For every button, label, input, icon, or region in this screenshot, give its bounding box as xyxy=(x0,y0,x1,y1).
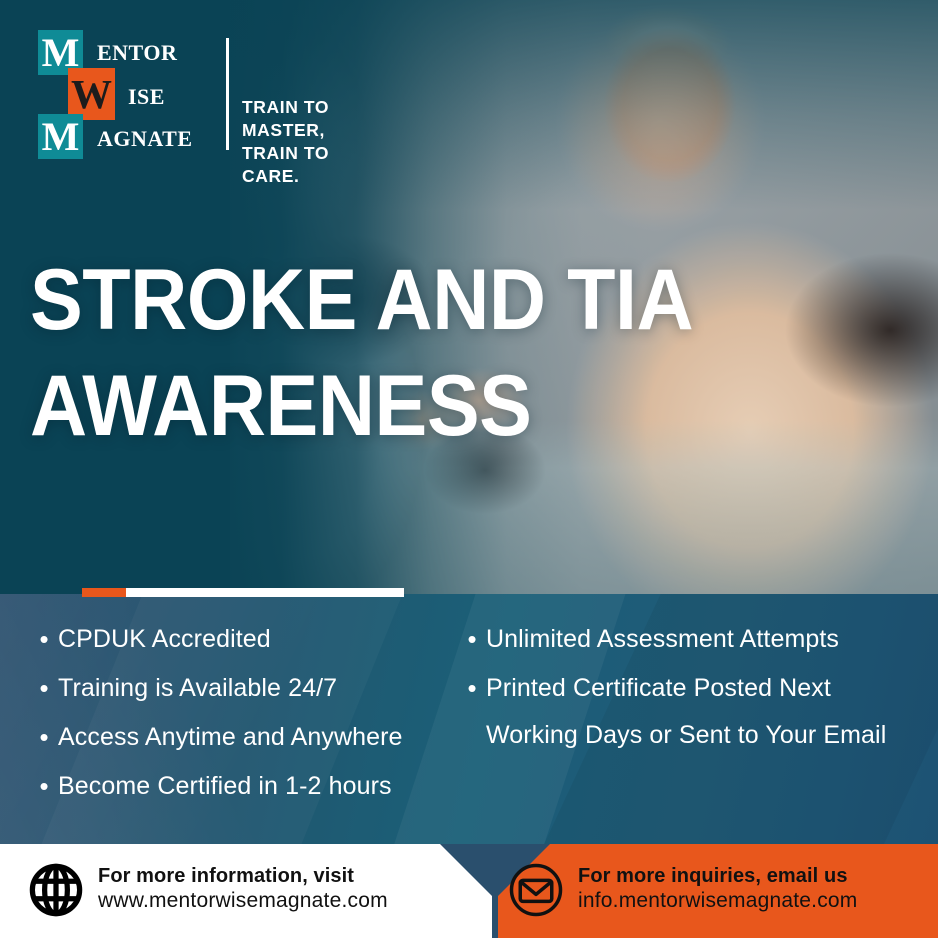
list-item: • Access Anytime and Anywhere xyxy=(30,714,460,761)
logo-word-wise: ISE xyxy=(128,86,165,108)
email-text: For more inquiries, email us info.mentor… xyxy=(578,865,858,914)
brand-logo: M W M ENTOR ISE AGNATE TRAIN TO MASTER, … xyxy=(38,30,378,158)
list-item: • CPDUK Accredited xyxy=(30,616,460,663)
feature-text: Unlimited Assessment Attempts xyxy=(486,616,839,663)
email-contact-block[interactable]: For more inquiries, email us info.mentor… xyxy=(508,862,858,918)
accent-divider-bar xyxy=(82,588,404,597)
email-heading: For more inquiries, email us xyxy=(578,865,858,888)
contact-footer: For more information, visit www.mentorwi… xyxy=(0,844,938,938)
feature-text: Printed Certificate Posted Next Working … xyxy=(486,665,928,759)
bullet-dot-icon: • xyxy=(458,616,486,662)
course-title-line-2: AWARENESS xyxy=(30,364,693,448)
logo-box-magnate: M xyxy=(38,114,83,159)
logo-wordmark: ENTOR ISE AGNATE xyxy=(86,30,226,158)
features-panel: • CPDUK Accredited • Training is Availab… xyxy=(0,594,938,844)
brand-tagline: TRAIN TO MASTER, TRAIN TO CARE. xyxy=(242,96,378,188)
website-contact-block[interactable]: For more information, visit www.mentorwi… xyxy=(28,862,388,918)
logo-vertical-divider xyxy=(226,38,229,150)
divider-orange-segment xyxy=(82,588,126,597)
list-item: • Unlimited Assessment Attempts xyxy=(458,616,928,663)
bullet-dot-icon: • xyxy=(30,763,58,809)
bullet-dot-icon: • xyxy=(30,714,58,760)
website-text: For more information, visit www.mentorwi… xyxy=(98,865,388,914)
logo-box-letter-m1: M xyxy=(42,33,80,73)
feature-text: Become Certified in 1-2 hours xyxy=(58,763,392,810)
list-item: • Printed Certificate Posted Next Workin… xyxy=(458,665,928,759)
feature-text: CPDUK Accredited xyxy=(58,616,271,663)
globe-icon xyxy=(28,862,84,918)
divider-white-segment xyxy=(126,588,404,597)
features-list: • CPDUK Accredited • Training is Availab… xyxy=(0,594,938,844)
tagline-line-1: TRAIN TO MASTER, xyxy=(242,96,378,142)
envelope-circle-icon xyxy=(508,862,564,918)
bullet-dot-icon: • xyxy=(458,665,486,711)
logo-word-magnate: AGNATE xyxy=(97,128,193,150)
promotional-poster: M W M ENTOR ISE AGNATE TRAIN TO MASTER, … xyxy=(0,0,938,938)
course-title-line-1: STROKE AND TIA xyxy=(30,258,693,342)
list-item: • Become Certified in 1-2 hours xyxy=(30,763,460,810)
feature-text: Access Anytime and Anywhere xyxy=(58,714,403,761)
bullet-dot-icon: • xyxy=(30,665,58,711)
logo-box-letter-m2: M xyxy=(42,117,80,157)
features-right-column: • Unlimited Assessment Attempts • Printe… xyxy=(458,616,928,761)
bullet-dot-icon: • xyxy=(30,616,58,662)
logo-word-mentor: ENTOR xyxy=(97,42,177,64)
features-left-column: • CPDUK Accredited • Training is Availab… xyxy=(30,616,460,812)
tagline-line-2: TRAIN TO CARE. xyxy=(242,142,378,188)
website-heading: For more information, visit xyxy=(98,865,388,888)
email-address[interactable]: info.mentorwisemagnate.com xyxy=(578,888,858,914)
course-title: STROKE AND TIA AWARENESS xyxy=(30,258,693,471)
website-url[interactable]: www.mentorwisemagnate.com xyxy=(98,888,388,914)
list-item: • Training is Available 24/7 xyxy=(30,665,460,712)
feature-text: Training is Available 24/7 xyxy=(58,665,337,712)
